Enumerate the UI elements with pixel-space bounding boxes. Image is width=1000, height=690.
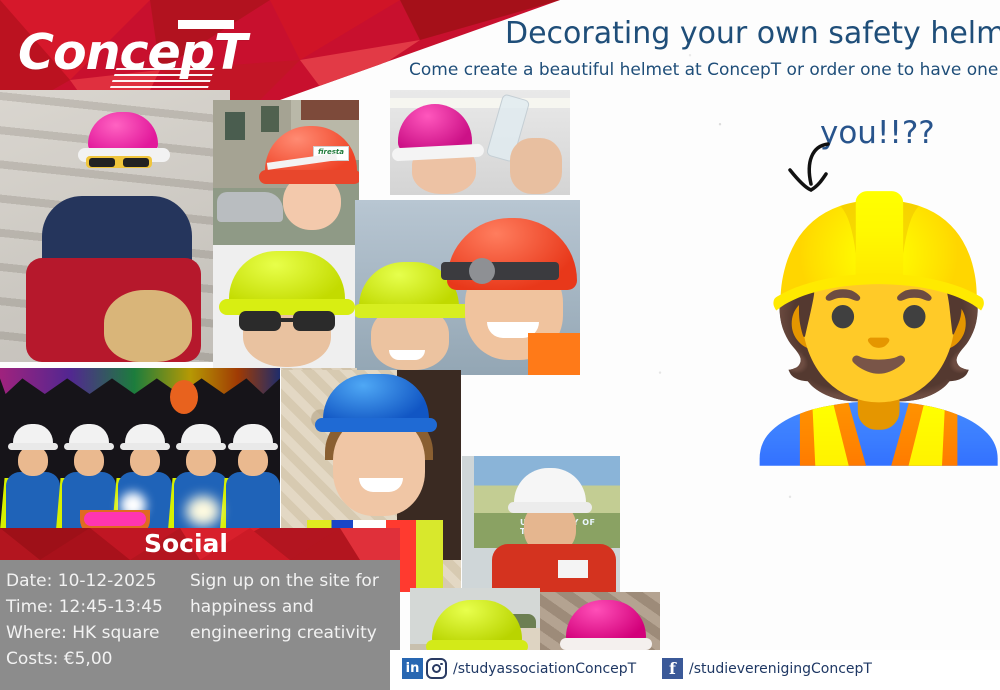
event-info-panel: Date: 10-12-2025 Time: 12:45-13:45 Where… — [0, 560, 400, 690]
page-subtitle: Come create a beautiful helmet at Concep… — [409, 60, 998, 80]
social-banner-title: Social — [0, 528, 400, 560]
event-costs: Costs: €5,00 — [6, 646, 163, 672]
screen-caption: UNIVERSITY OF TWENTE — [520, 518, 620, 536]
social-account-studievereniging[interactable]: f /studieverenigingConcepT — [662, 658, 872, 679]
construction-worker-emoji: 👷 — [723, 195, 959, 467]
event-details: Date: 10-12-2025 Time: 12:45-13:45 Where… — [6, 568, 163, 672]
photo-drinking-pink-helmet — [390, 90, 570, 195]
linkedin-icon[interactable]: in — [402, 658, 423, 679]
page-title: Decorating your own safety helmet — [505, 16, 1000, 51]
photo-red-shirt-white-helmet: UNIVERSITY OF TWENTE — [462, 456, 620, 594]
social-handle-study-association: /studyassociationConcepT — [453, 661, 636, 677]
event-time: Time: 12:45-13:45 — [6, 594, 163, 620]
logo-t-bar — [178, 20, 234, 29]
photo-firesta-orange-helmet: firesta — [213, 100, 359, 250]
photo-two-smiling-helmets — [355, 200, 580, 375]
event-location: Where: HK square — [6, 620, 163, 646]
instagram-icon[interactable] — [426, 658, 447, 679]
firesta-tag-text: firesta — [314, 147, 348, 158]
signup-call-to-action: Sign up on the site for happiness and en… — [190, 568, 395, 646]
social-handle-studievereniging: /studieverenigingConcepT — [689, 661, 872, 677]
social-account-study-association[interactable]: in /studyassociationConcepT — [402, 658, 636, 679]
photo-stairs-pink-helmet — [0, 90, 230, 362]
concept-logo: ConcepT — [18, 14, 228, 100]
photo-group-party — [0, 368, 280, 536]
poster-canvas: ConcepT Decorating your own safety helme… — [0, 0, 1000, 690]
event-date: Date: 10-12-2025 — [6, 568, 163, 594]
social-banner: Social — [0, 528, 400, 560]
social-footer: in /studyassociationConcepT f /studiever… — [390, 650, 1000, 690]
facebook-icon[interactable]: f — [662, 658, 683, 679]
photo-yellow-helmet-sunglasses — [213, 245, 359, 370]
